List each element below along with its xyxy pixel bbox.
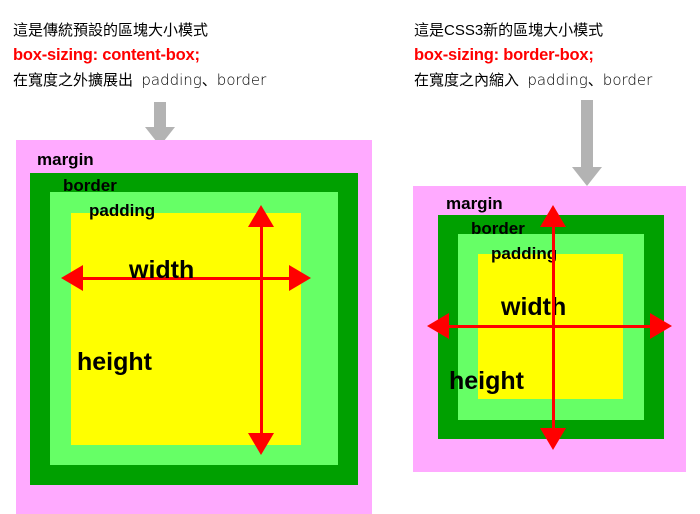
box-model-diagram-border-box: margin border padding width height bbox=[413, 186, 686, 472]
arrow-shaft bbox=[581, 100, 593, 168]
box-model-diagram-content-box: margin border padding width height bbox=[16, 140, 372, 514]
content-layer bbox=[71, 213, 301, 445]
caption-left-line1: 這是傳統預設的區塊大小模式 bbox=[13, 18, 266, 43]
width-label: width bbox=[129, 258, 194, 283]
label-border: border bbox=[471, 220, 525, 237]
caption-border-box: 這是CSS3新的區塊大小模式 box-sizing: border-box; 在… bbox=[414, 18, 652, 93]
height-arrow-head-top bbox=[540, 205, 566, 227]
caption-left-line3-terms: padding、border bbox=[141, 71, 266, 89]
label-margin: margin bbox=[37, 151, 94, 168]
caption-right-line3-prefix: 在寬度之內縮入 bbox=[414, 72, 519, 89]
height-measure-line bbox=[552, 223, 555, 431]
arrow-shaft bbox=[154, 102, 166, 128]
height-label: height bbox=[77, 350, 152, 375]
label-padding: padding bbox=[491, 245, 557, 262]
caption-right-line3: 在寬度之內縮入 padding、border bbox=[414, 68, 652, 93]
height-arrow-head-bottom bbox=[540, 428, 566, 450]
caption-right-code: box-sizing: border-box; bbox=[414, 43, 652, 68]
arrow-head bbox=[572, 167, 602, 186]
width-arrow-head-right bbox=[650, 313, 672, 339]
height-label: height bbox=[449, 369, 524, 394]
label-margin: margin bbox=[446, 195, 503, 212]
caption-left-line3-prefix: 在寬度之外擴展出 bbox=[13, 72, 133, 89]
width-arrow-head-right bbox=[289, 265, 311, 291]
height-arrow-head-bottom bbox=[248, 433, 274, 455]
illustration-canvas: 這是傳統預設的區塊大小模式 box-sizing: content-box; 在… bbox=[0, 0, 700, 514]
caption-right-line3-terms: padding、border bbox=[527, 71, 652, 89]
caption-left-line3: 在寬度之外擴展出 padding、border bbox=[13, 68, 266, 93]
height-arrow-head-top bbox=[248, 205, 274, 227]
caption-left-code: box-sizing: content-box; bbox=[13, 43, 266, 68]
caption-right-line1: 這是CSS3新的區塊大小模式 bbox=[414, 18, 652, 43]
width-label: width bbox=[501, 295, 566, 320]
width-measure-line bbox=[446, 325, 654, 328]
width-arrow-head-left bbox=[61, 265, 83, 291]
height-measure-line bbox=[260, 223, 263, 435]
width-arrow-head-left bbox=[427, 313, 449, 339]
label-border: border bbox=[63, 177, 117, 194]
arrow-down-icon bbox=[572, 100, 602, 186]
label-padding: padding bbox=[89, 202, 155, 219]
caption-content-box: 這是傳統預設的區塊大小模式 box-sizing: content-box; 在… bbox=[13, 18, 266, 93]
